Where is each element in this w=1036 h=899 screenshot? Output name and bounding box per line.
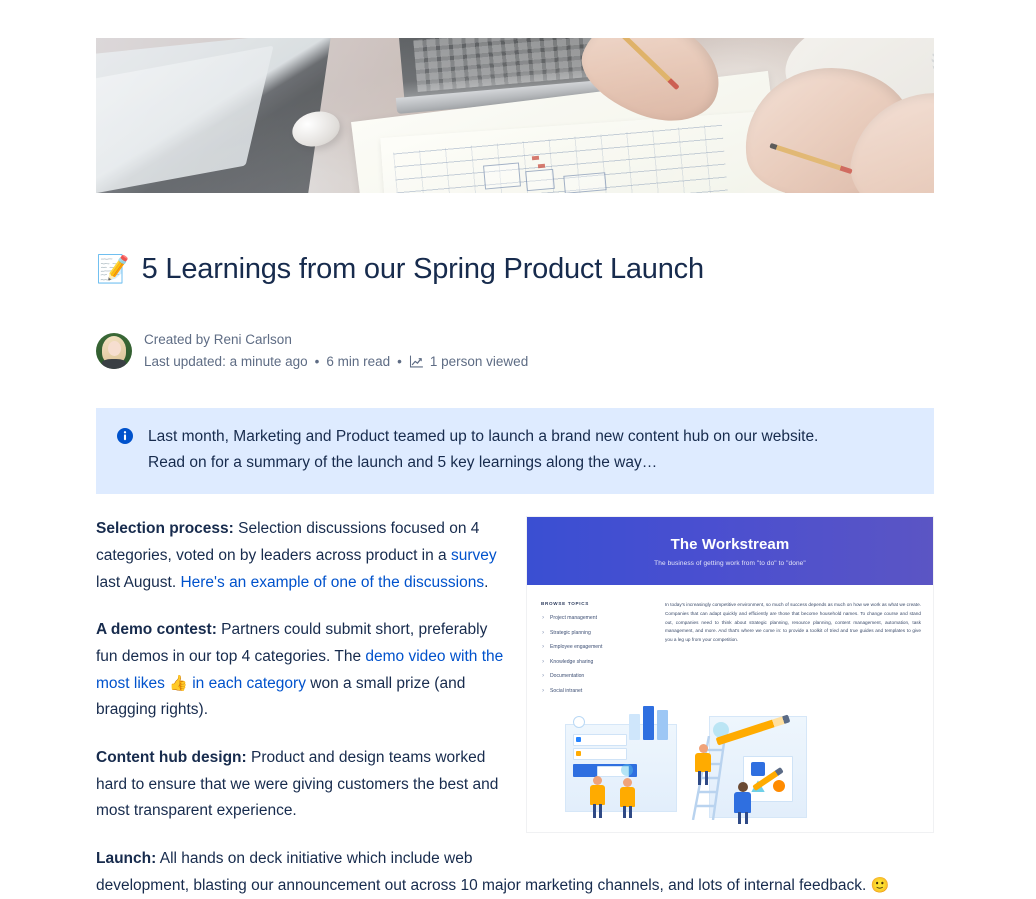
info-panel-text: Last month, Marketing and Product teamed… — [148, 424, 818, 476]
paragraph-1-text-3: . — [484, 574, 488, 591]
survey-link[interactable]: survey — [451, 547, 497, 564]
illustration-ladder — [687, 736, 733, 820]
embed-subtitle: The business of getting work from "to do… — [654, 560, 806, 567]
embed-sidebar-item-strategic-planning[interactable]: Strategic planning — [550, 630, 653, 636]
info-panel-line-2: Read on for a summary of the launch and … — [148, 450, 818, 476]
embed-paragraph: In today's increasingly competitive envi… — [665, 601, 921, 702]
avatar-face — [108, 341, 121, 356]
illustration-card-dot-2 — [576, 751, 581, 756]
embedded-page-preview[interactable]: The Workstream The business of getting w… — [526, 516, 934, 833]
embed-header: The Workstream The business of getting w… — [527, 517, 933, 585]
byline: Created by Reni Carlson Last updated: a … — [96, 329, 934, 373]
info-panel-line-1: Last month, Marketing and Product teamed… — [148, 424, 818, 450]
demo-video-link-text-b: in each category — [188, 675, 306, 692]
illustration-card-2 — [573, 748, 627, 760]
avatar[interactable] — [96, 333, 132, 369]
embed-sidebar-item-employee-engagement[interactable]: Employee engagement — [550, 644, 653, 650]
created-by-label: Created by Reni Carlson — [144, 329, 528, 351]
last-updated-label: Last updated: a minute ago — [144, 351, 308, 373]
embed-title: The Workstream — [671, 536, 790, 553]
views-label: 1 person viewed — [430, 351, 528, 373]
embed-sidebar-item-knowledge-sharing[interactable]: Knowledge sharing — [550, 659, 653, 665]
thumbs-up-emoji: 👍 — [169, 675, 188, 692]
article-body: The Workstream The business of getting w… — [96, 516, 934, 899]
embed-sidebar-item-project-management[interactable]: Project management — [550, 615, 653, 621]
illustration-bar-2 — [643, 706, 654, 740]
embed-illustration — [537, 704, 923, 824]
embed-body: BROWSE TOPICS Project management Strateg… — [527, 585, 933, 702]
embed-sidebar-item-social-intranet[interactable]: Social intranet — [550, 688, 653, 694]
illustration-bar-3 — [657, 710, 668, 740]
paragraph-2-lead: A demo contest: — [96, 621, 217, 638]
page-title: 5 Learnings from our Spring Product Laun… — [142, 252, 704, 287]
embed-sidebar: BROWSE TOPICS Project management Strateg… — [541, 601, 653, 702]
paragraph-launch: Launch: All hands on deck initiative whi… — [96, 846, 934, 899]
info-circle-icon — [116, 427, 134, 445]
views-group[interactable]: 1 person viewed — [409, 351, 528, 373]
illustration-card-dot-1 — [576, 737, 581, 742]
paragraph-3-lead: Content hub design: — [96, 749, 247, 766]
hero-image — [96, 38, 934, 193]
byline-meta: Last updated: a minute ago • 6 min read … — [144, 351, 528, 373]
info-panel: Last month, Marketing and Product teamed… — [96, 408, 934, 494]
article-content: 📝 5 Learnings from our Spring Product La… — [96, 0, 934, 899]
page-title-row: 📝 5 Learnings from our Spring Product La… — [96, 233, 934, 307]
paragraph-1-text-2: last August. — [96, 574, 180, 591]
paragraph-4-text-1: All hands on deck initiative which inclu… — [96, 850, 871, 894]
embed-sidebar-title: BROWSE TOPICS — [541, 601, 653, 606]
avatar-body — [102, 359, 126, 369]
paragraph-4-lead: Launch: — [96, 850, 156, 867]
memo-emoji: 📝 — [96, 256, 130, 283]
illustration-doc-square — [751, 762, 765, 776]
example-discussion-link[interactable]: Here's an example of one of the discussi… — [180, 574, 484, 591]
illustration-bar-1 — [629, 714, 640, 740]
article-page: 📝 5 Learnings from our Spring Product La… — [0, 0, 1036, 877]
illustration-card-1 — [573, 734, 627, 746]
paragraph-1-lead: Selection process: — [96, 520, 234, 537]
hero-color-tint — [96, 38, 934, 193]
byline-separator-1: • — [315, 351, 320, 373]
byline-separator-2: • — [397, 351, 402, 373]
embed-sidebar-item-documentation[interactable]: Documentation — [550, 673, 653, 679]
analytics-chart-icon — [409, 354, 424, 369]
slightly-smiling-face-emoji: 🙂 — [871, 877, 890, 894]
read-time-label: 6 min read — [326, 351, 390, 373]
byline-text: Created by Reni Carlson Last updated: a … — [144, 329, 528, 373]
